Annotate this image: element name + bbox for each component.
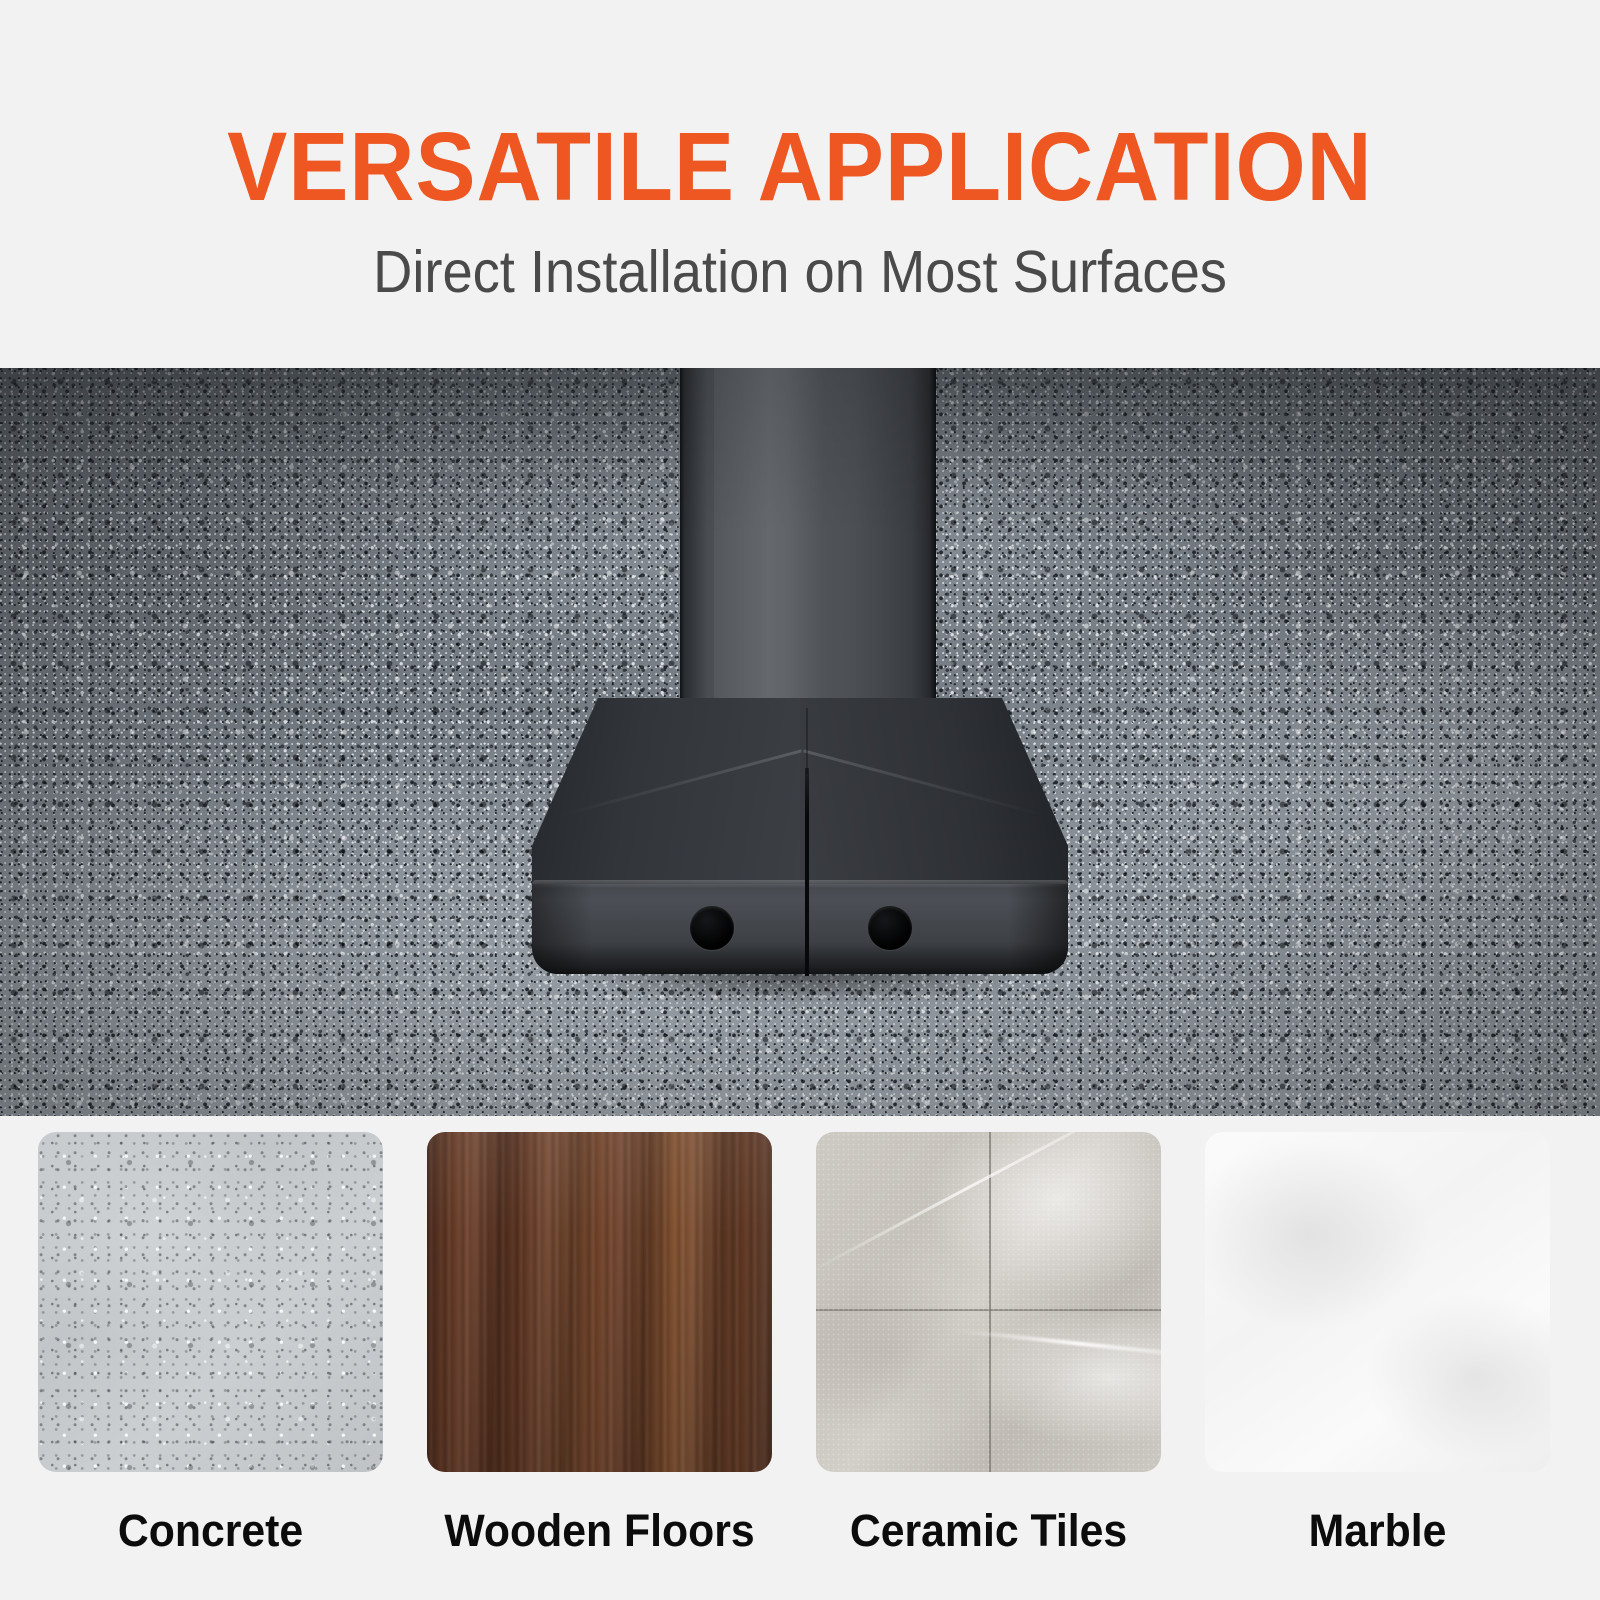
surface-swatch-marble[interactable]	[1205, 1132, 1550, 1472]
surface-label-concrete: Concrete	[47, 1486, 375, 1576]
tile-vein-upper	[816, 1132, 1161, 1274]
surface-swatch-ceramic-tiles[interactable]	[816, 1132, 1161, 1472]
marble-haze	[1205, 1132, 1550, 1472]
page-title: VERSATILE APPLICATION	[227, 118, 1373, 215]
hero-product-photo	[0, 368, 1600, 1116]
surface-caption-row: Concrete Wooden Floors Ceramic Tiles Mar…	[38, 1486, 1562, 1576]
surface-label-ceramic-tiles: Ceramic Tiles	[825, 1486, 1153, 1576]
surface-swatch-row	[38, 1132, 1562, 1472]
hero-vignette	[0, 368, 1600, 1116]
page-subtitle: Direct Installation on Most Surfaces	[373, 243, 1227, 302]
surface-options-strip: Concrete Wooden Floors Ceramic Tiles Mar…	[0, 1116, 1600, 1600]
surface-swatch-concrete[interactable]	[38, 1132, 383, 1472]
surface-label-marble: Marble	[1214, 1486, 1542, 1576]
tile-grout-vertical	[989, 1132, 991, 1472]
surface-label-wooden-floors: Wooden Floors	[436, 1486, 764, 1576]
header-banner: VERSATILE APPLICATION Direct Installatio…	[0, 0, 1600, 368]
surface-swatch-wooden-floors[interactable]	[427, 1132, 772, 1472]
tile-vein-lower	[955, 1328, 1161, 1361]
tile-grout-horizontal	[816, 1309, 1161, 1311]
